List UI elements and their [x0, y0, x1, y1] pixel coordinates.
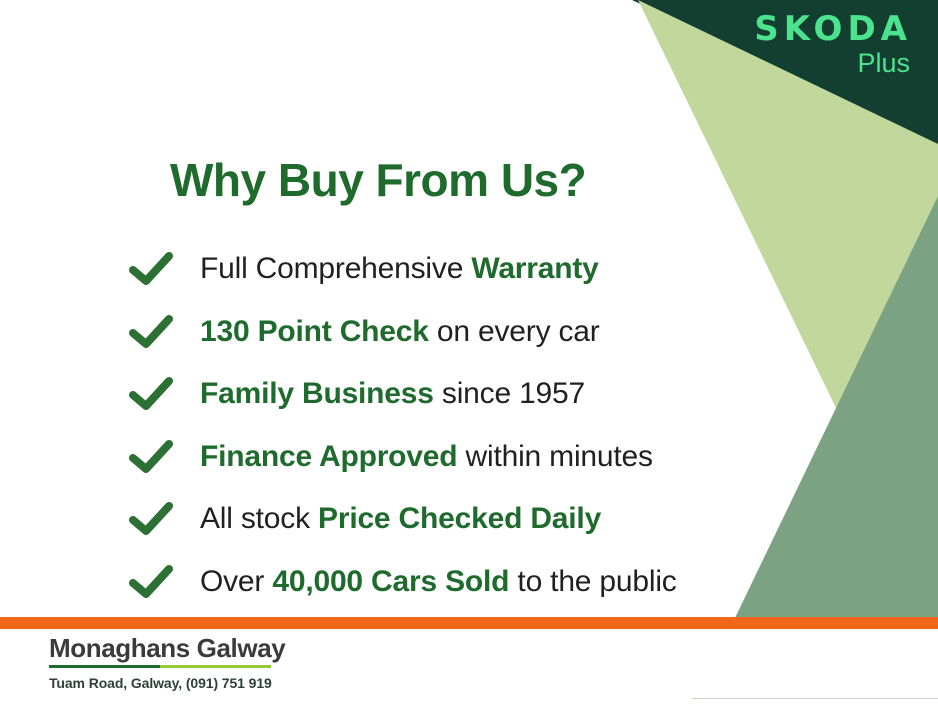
page-title: Why Buy From Us? [170, 156, 586, 204]
underline-light-segment [160, 665, 271, 668]
benefit-emphasis: 40,000 Cars Sold [272, 565, 509, 598]
skoda-wordmark: SKODA [754, 12, 912, 46]
dealer-address: Tuam Road, Galway, (091) 751 919 [49, 675, 285, 691]
list-item: Over 40,000 Cars Sold to the public [128, 551, 677, 614]
benefit-pre: Full Comprehensive [200, 252, 471, 285]
benefit-text: Full Comprehensive Warranty [200, 254, 599, 284]
skoda-plus-logo: SKODA Plus [754, 12, 912, 79]
benefit-text: Over 40,000 Cars Sold to the public [200, 567, 677, 597]
orange-divider [0, 617, 938, 629]
list-item: Finance Approved within minutes [128, 426, 677, 489]
list-item: All stock Price Checked Daily [128, 488, 677, 551]
check-icon [128, 250, 174, 288]
benefit-post: to the public [509, 565, 676, 598]
plus-wordmark: Plus [754, 48, 910, 79]
list-item: 130 Point Check on every car [128, 301, 677, 364]
benefit-post: since 1957 [434, 377, 585, 410]
poster-canvas: SKODA Plus Why Buy From Us? Full Compreh… [0, 0, 938, 704]
benefit-text: Finance Approved within minutes [200, 442, 653, 472]
benefit-emphasis: Family Business [200, 377, 434, 410]
benefit-post: within minutes [457, 440, 652, 473]
benefit-text: 130 Point Check on every car [200, 317, 600, 347]
check-icon [128, 500, 174, 538]
benefit-emphasis: 130 Point Check [200, 315, 429, 348]
dealer-underline [49, 665, 271, 668]
list-item: Family Business since 1957 [128, 363, 677, 426]
benefit-emphasis: Warranty [471, 252, 598, 285]
dealer-footer: Monaghans Galway Tuam Road, Galway, (091… [49, 634, 285, 691]
list-item: Full Comprehensive Warranty [128, 238, 677, 301]
dealer-name: Monaghans Galway [49, 634, 285, 663]
benefit-post: on every car [429, 315, 600, 348]
check-icon [128, 563, 174, 601]
benefit-pre: Over [200, 565, 272, 598]
underline-dark-segment [49, 665, 160, 668]
benefit-emphasis: Finance Approved [200, 440, 457, 473]
benefits-list: Full Comprehensive Warranty 130 Point Ch… [128, 238, 677, 613]
benefit-text: Family Business since 1957 [200, 379, 585, 409]
check-icon [128, 438, 174, 476]
bottom-hairline [692, 698, 938, 699]
benefit-text: All stock Price Checked Daily [200, 504, 601, 534]
benefit-emphasis: Price Checked Daily [318, 502, 601, 535]
sage-green-wedge [735, 196, 938, 618]
benefit-pre: All stock [200, 502, 318, 535]
check-icon [128, 313, 174, 351]
check-icon [128, 375, 174, 413]
